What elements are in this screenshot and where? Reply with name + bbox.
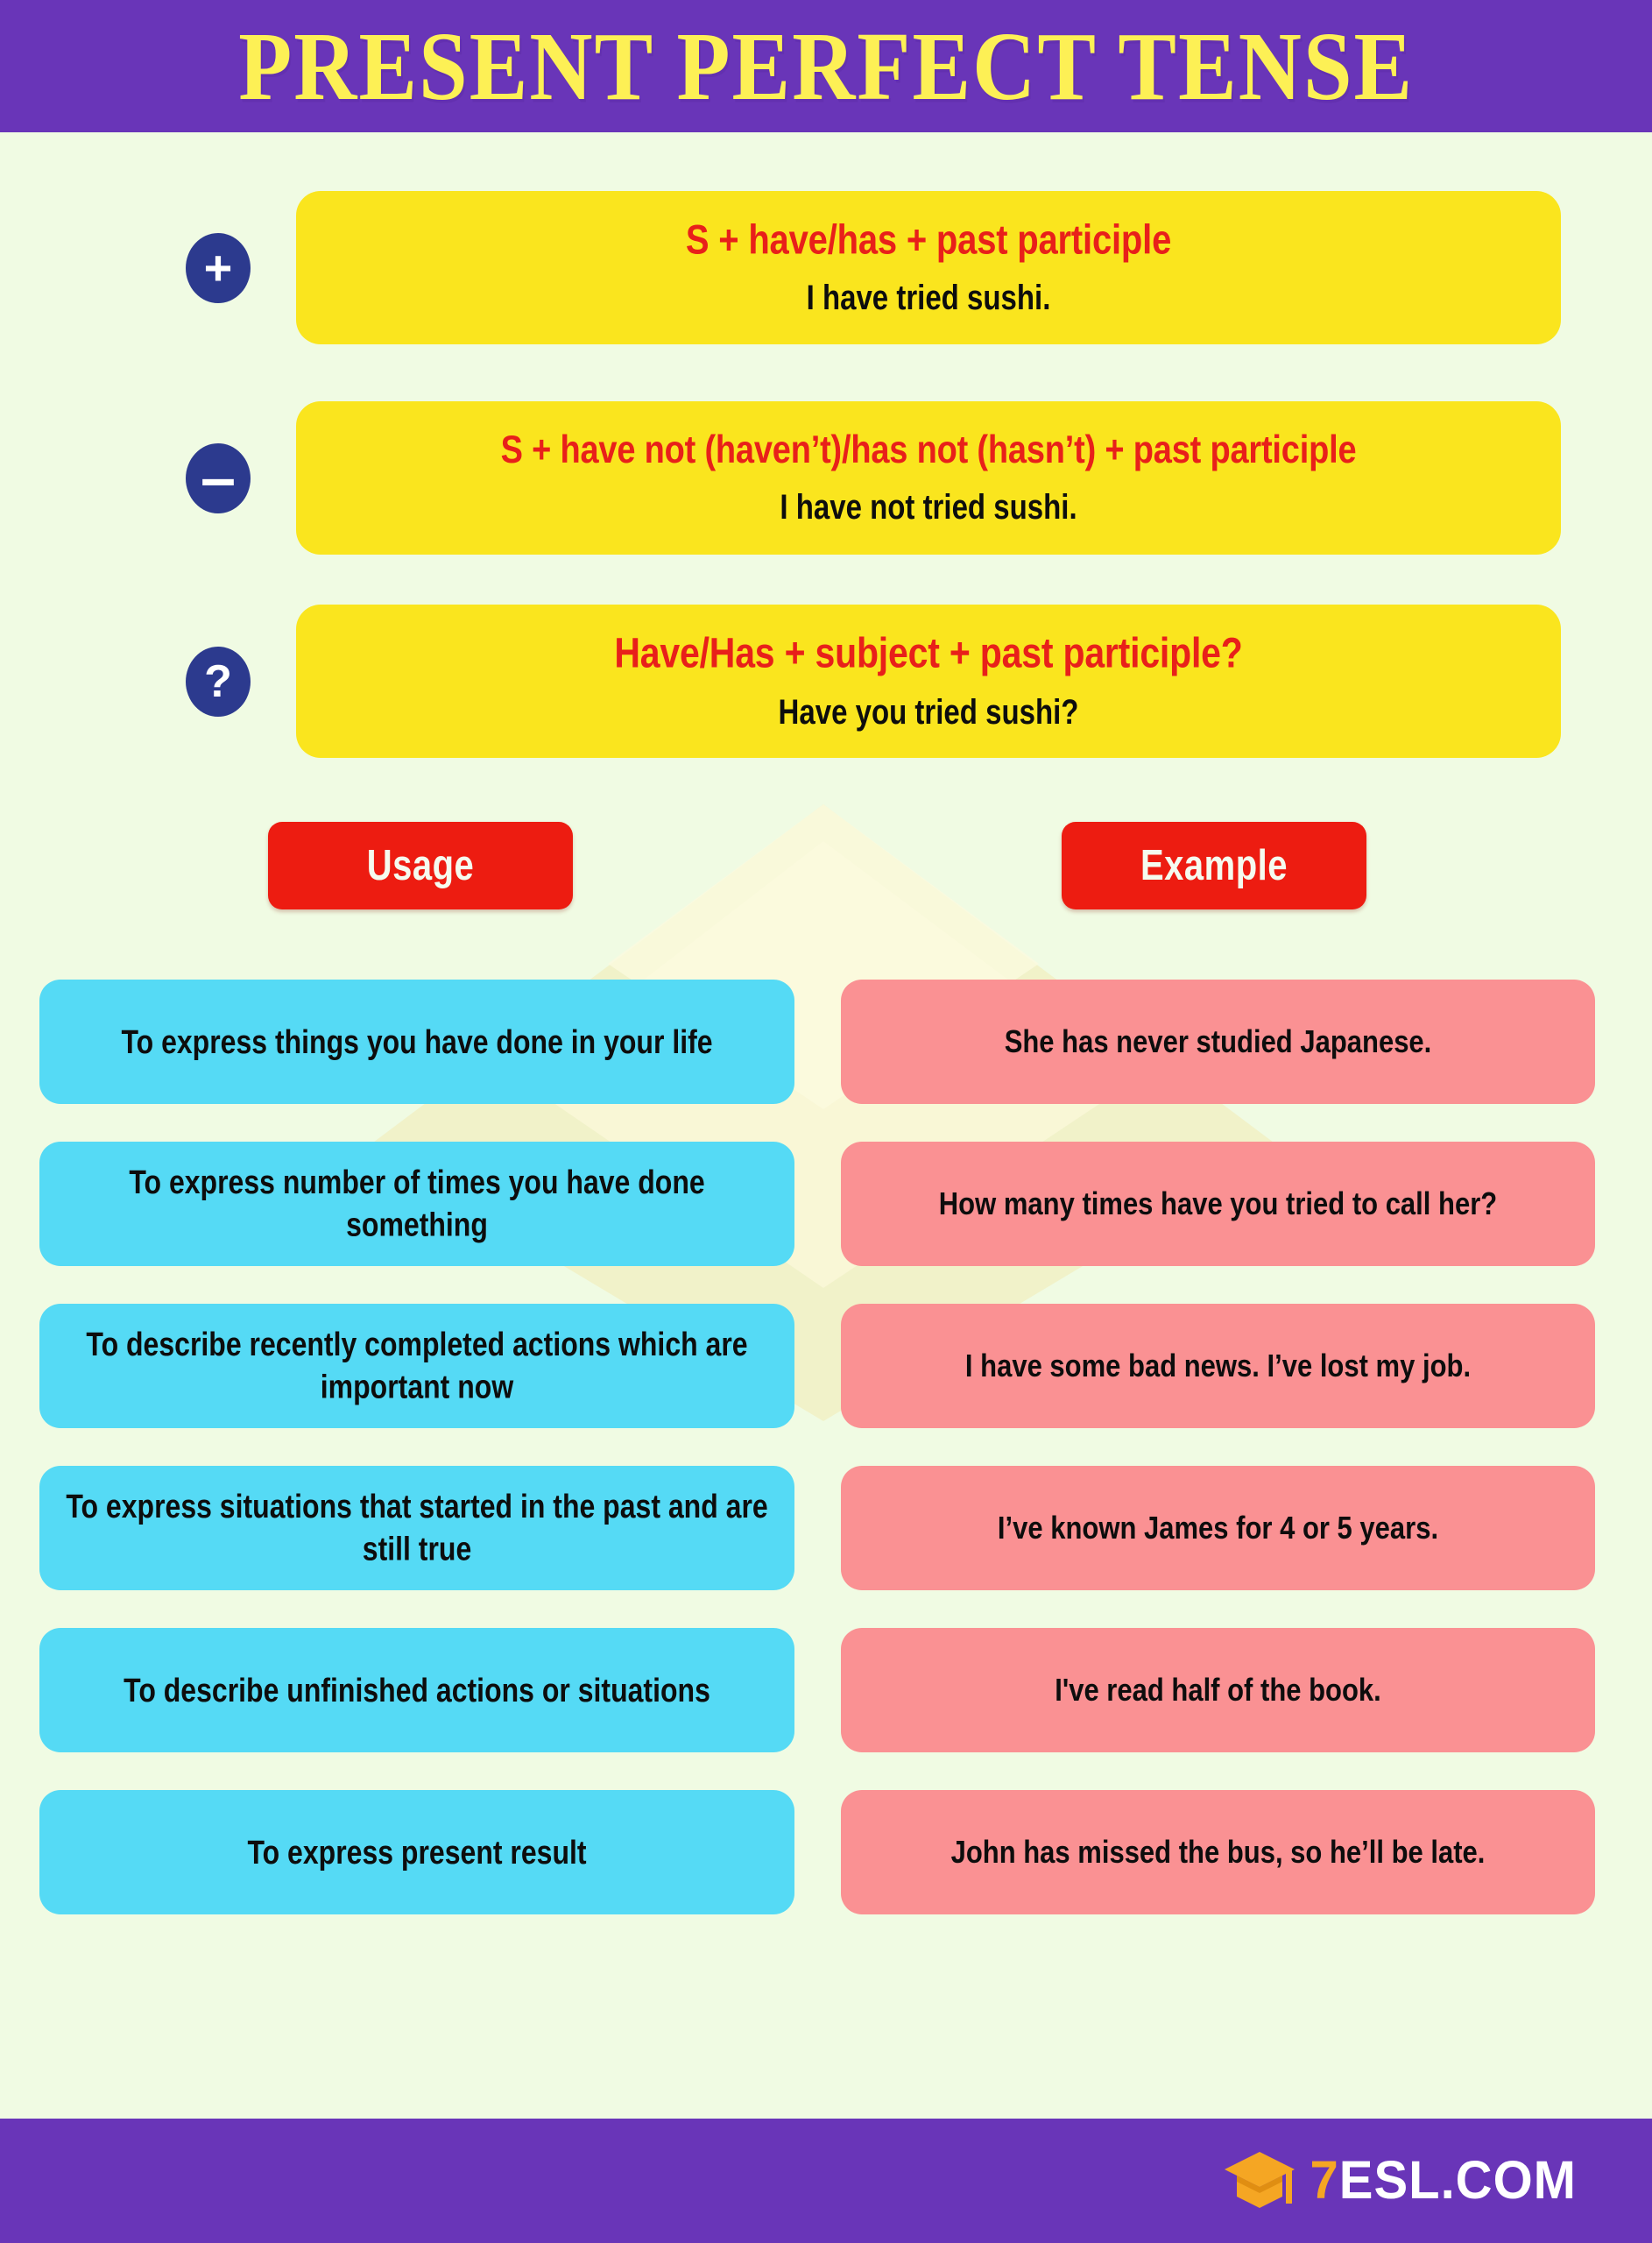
- example-cell: I have some bad news. I’ve lost my job.: [841, 1304, 1595, 1428]
- example-cell: John has missed the bus, so he’ll be lat…: [841, 1790, 1595, 1914]
- usage-text: To describe recently completed actions w…: [62, 1324, 772, 1409]
- table-row: To express situations that started in th…: [39, 1466, 1595, 1590]
- table-row: To express number of times you have done…: [39, 1142, 1595, 1266]
- table-row: To describe recently completed actions w…: [39, 1304, 1595, 1428]
- logo-rest: ESL.COM: [1339, 2150, 1577, 2210]
- infographic-page: PRESENT PERFECT TENSE + S + have/has + p…: [0, 0, 1652, 2243]
- example-cell: She has never studied Japanese.: [841, 980, 1595, 1104]
- formula-example-affirmative: I have tried sushi.: [807, 278, 1051, 319]
- usage-cell: To express present result: [39, 1790, 794, 1914]
- site-logo[interactable]: 7ESL.COM: [1223, 2147, 1578, 2215]
- formula-card-negative: S + have not (haven’t)/has not (hasn’t) …: [296, 401, 1561, 555]
- example-cell: I've read half of the book.: [841, 1628, 1595, 1752]
- formula-structure-negative: S + have not (haven’t)/has not (hasn’t) …: [501, 428, 1357, 473]
- table-row: To express present result John has misse…: [39, 1790, 1595, 1914]
- page-title: PRESENT PERFECT TENSE: [238, 18, 1414, 115]
- table-row: To describe unfinished actions or situat…: [39, 1628, 1595, 1752]
- formula-example-question: Have you tried sushi?: [779, 692, 1079, 733]
- example-cell: I’ve known James for 4 or 5 years.: [841, 1466, 1595, 1590]
- usage-text: To express number of times you have done…: [62, 1162, 772, 1247]
- example-text: How many times have you tried to call he…: [939, 1184, 1497, 1225]
- usage-text: To express things you have done in your …: [121, 1021, 712, 1063]
- formula-structure-affirmative: S + have/has + past participle: [686, 216, 1171, 265]
- example-text: She has never studied Japanese.: [1005, 1022, 1432, 1063]
- formula-row-affirmative: + S + have/has + past participle I have …: [186, 191, 1561, 344]
- example-cell: How many times have you tried to call he…: [841, 1142, 1595, 1266]
- formula-card-affirmative: S + have/has + past participle I have tr…: [296, 191, 1561, 344]
- example-text: I've read half of the book.: [1055, 1670, 1381, 1711]
- question-mark-icon: ?: [186, 647, 251, 717]
- usage-cell: To describe unfinished actions or situat…: [39, 1628, 794, 1752]
- usage-cell: To express things you have done in your …: [39, 980, 794, 1104]
- example-text: I have some bad news. I’ve lost my job.: [965, 1346, 1471, 1387]
- usage-text: To describe unfinished actions or situat…: [124, 1669, 710, 1711]
- example-text: I’ve known James for 4 or 5 years.: [998, 1508, 1438, 1549]
- graduation-cap-icon: [1223, 2147, 1296, 2215]
- usage-example-table: To express things you have done in your …: [39, 980, 1595, 1952]
- column-header-usage: Usage: [268, 822, 573, 909]
- minus-icon: –: [186, 443, 251, 513]
- formula-example-negative: I have not tried sushi.: [780, 487, 1077, 528]
- formula-row-question: ? Have/Has + subject + past participle? …: [186, 605, 1561, 758]
- plus-icon: +: [186, 233, 251, 303]
- table-row: To express things you have done in your …: [39, 980, 1595, 1104]
- column-header-usage-label: Usage: [367, 845, 475, 888]
- column-header-example-label: Example: [1140, 845, 1288, 888]
- column-header-example: Example: [1062, 822, 1366, 909]
- usage-text: To express situations that started in th…: [62, 1486, 772, 1571]
- usage-cell: To describe recently completed actions w…: [39, 1304, 794, 1428]
- usage-cell: To express number of times you have done…: [39, 1142, 794, 1266]
- formula-structure-question: Have/Has + subject + past participle?: [614, 629, 1242, 678]
- logo-wordmark: 7ESL.COM: [1310, 2155, 1578, 2208]
- formula-row-negative: – S + have not (haven’t)/has not (hasn’t…: [186, 401, 1561, 555]
- header-bar: PRESENT PERFECT TENSE: [0, 0, 1652, 132]
- footer-bar: 7ESL.COM: [0, 2119, 1652, 2243]
- logo-seven: 7: [1310, 2150, 1339, 2210]
- formula-card-question: Have/Has + subject + past participle? Ha…: [296, 605, 1561, 758]
- usage-text: To express present result: [247, 1831, 586, 1873]
- example-text: John has missed the bus, so he’ll be lat…: [951, 1832, 1486, 1873]
- usage-cell: To express situations that started in th…: [39, 1466, 794, 1590]
